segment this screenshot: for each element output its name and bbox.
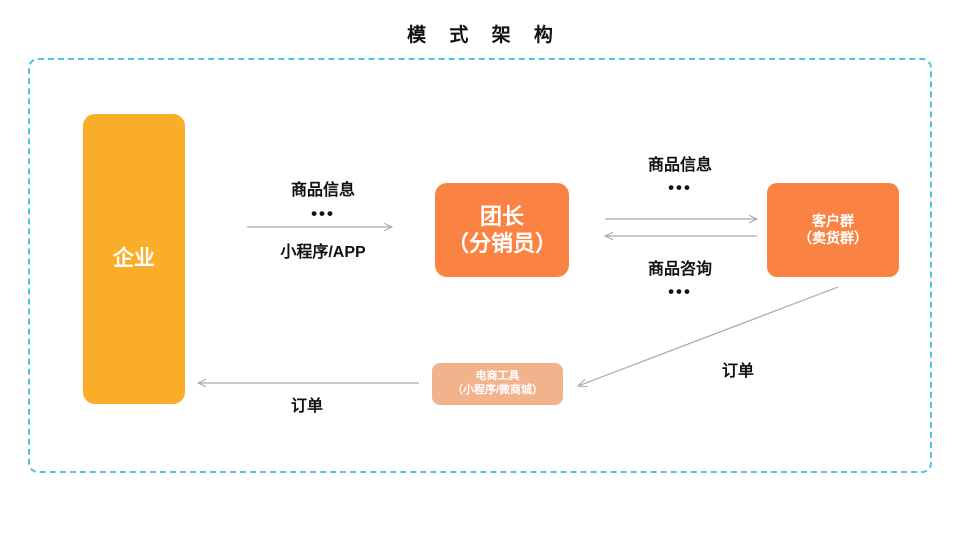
diagram-canvas: 模 式 架 构 企业 团长 （分销员） (0, 0, 960, 540)
node-enterprise[interactable]: 企业 (83, 114, 185, 404)
node-customer-group-label-primary: 客户群 (812, 213, 854, 231)
flow-dots-right-bottom: ••• (602, 282, 758, 302)
flow-dots-left: ••• (245, 204, 401, 224)
node-leader-label-secondary: （分销员） (447, 230, 557, 258)
node-customer-group[interactable]: 客户群 （卖货群） (767, 183, 899, 277)
node-customer-group-label-secondary: （卖货群） (798, 230, 868, 248)
node-ecommerce-tool-label-primary: 电商工具 (476, 370, 520, 384)
flow-label-order-diagonal: 订单 (700, 357, 776, 381)
node-ecommerce-tool-label-secondary: （小程序/微商城） (452, 384, 543, 398)
flow-dots-right-top: ••• (602, 178, 758, 198)
flow-label-product-inquiry: 商品咨询 (602, 255, 758, 279)
node-leader[interactable]: 团长 （分销员） (435, 183, 569, 277)
flow-label-product-info-left: 商品信息 (245, 176, 401, 200)
node-leader-label-primary: 团长 (480, 203, 524, 231)
node-enterprise-label: 企业 (113, 246, 155, 272)
node-ecommerce-tool[interactable]: 电商工具 （小程序/微商城） (432, 363, 563, 405)
page-title: 模 式 架 构 (0, 20, 960, 47)
flow-label-miniprogram-app: 小程序/APP (245, 238, 401, 262)
flow-label-product-info-right: 商品信息 (602, 151, 758, 175)
flow-label-order-bottom: 订单 (252, 392, 362, 416)
